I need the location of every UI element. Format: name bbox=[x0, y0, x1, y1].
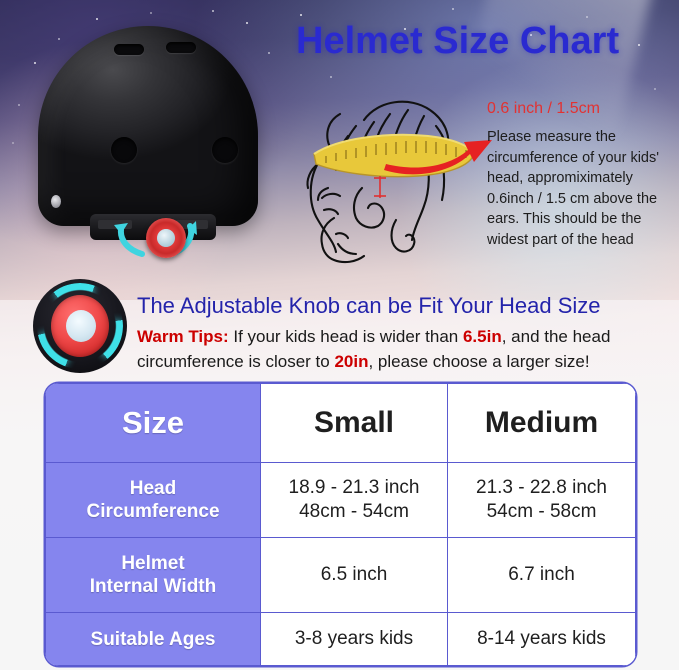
table-header-size: Size bbox=[46, 384, 261, 463]
warm-tips-label: Warm Tips: bbox=[137, 327, 229, 346]
measure-marker-icon bbox=[374, 176, 386, 198]
star-speck bbox=[12, 142, 14, 144]
row-label-line2: Circumference bbox=[47, 500, 259, 523]
cell-medium-suitable-ages: 8-14 years kids bbox=[448, 613, 636, 666]
row-label-line1: Head bbox=[47, 477, 259, 500]
row-label-suitable-ages: Suitable Ages bbox=[46, 613, 261, 666]
warm-tips-value2: 20in bbox=[334, 352, 368, 371]
row-label-line1: Helmet bbox=[47, 552, 259, 575]
table-row: Suitable Ages 3-8 years kids 8-14 years … bbox=[46, 613, 636, 666]
cell-line1: 21.3 - 22.8 inch bbox=[449, 476, 634, 500]
cell-medium-helmet-internal-width: 6.7 inch bbox=[448, 538, 636, 613]
star-speck bbox=[150, 12, 152, 14]
cell-line1: 18.9 - 21.3 inch bbox=[262, 476, 446, 500]
table-header-small: Small bbox=[261, 384, 448, 463]
knob-rotation-arrows-icon bbox=[18, 18, 278, 258]
table-header-medium: Medium bbox=[448, 384, 636, 463]
adjust-knob-badge-icon bbox=[27, 273, 133, 379]
star-speck bbox=[654, 88, 656, 90]
size-chart-table: Size Small Medium Head Circumference 18.… bbox=[45, 383, 636, 666]
star-speck bbox=[452, 8, 454, 10]
row-label-helmet-internal-width: Helmet Internal Width bbox=[46, 538, 261, 613]
table-row: Head Circumference 18.9 - 21.3 inch 48cm… bbox=[46, 463, 636, 538]
warm-tips-part3: , please choose a larger size! bbox=[368, 352, 589, 371]
warm-tips-value1: 6.5in bbox=[463, 327, 502, 346]
warm-tips-part1: If your kids head is wider than bbox=[229, 327, 463, 346]
row-label-head-circumference: Head Circumference bbox=[46, 463, 261, 538]
table-row: Helmet Internal Width 6.5 inch 6.7 inch bbox=[46, 538, 636, 613]
star-speck bbox=[212, 10, 214, 12]
cell-small-helmet-internal-width: 6.5 inch bbox=[261, 538, 448, 613]
page-title: Helmet Size Chart bbox=[296, 20, 619, 63]
row-label-line2: Internal Width bbox=[47, 575, 259, 598]
table-header-row: Size Small Medium bbox=[46, 384, 636, 463]
star-speck bbox=[330, 76, 332, 78]
head-profile-icon bbox=[278, 92, 493, 272]
helmet-icon bbox=[18, 18, 278, 258]
measure-headline: 0.6 inch / 1.5cm bbox=[487, 100, 600, 118]
infographic-page: Helmet Size Chart bbox=[0, 0, 679, 670]
adjust-knob-icon bbox=[146, 218, 186, 258]
cell-small-suitable-ages: 3-8 years kids bbox=[261, 613, 448, 666]
star-speck bbox=[586, 16, 588, 18]
measure-body-text: Please measure the circumference of your… bbox=[487, 127, 677, 250]
cell-medium-head-circumference: 21.3 - 22.8 inch 54cm - 58cm bbox=[448, 463, 636, 538]
star-speck bbox=[300, 14, 302, 16]
cell-small-head-circumference: 18.9 - 21.3 inch 48cm - 54cm bbox=[261, 463, 448, 538]
knob-heading: The Adjustable Knob can be Fit Your Head… bbox=[137, 293, 601, 319]
cell-line2: 54cm - 58cm bbox=[449, 500, 634, 524]
knob-dial bbox=[51, 295, 109, 357]
cell-line2: 48cm - 54cm bbox=[262, 500, 446, 524]
star-speck bbox=[638, 44, 640, 46]
warm-tips: Warm Tips: If your kids head is wider th… bbox=[137, 324, 671, 374]
